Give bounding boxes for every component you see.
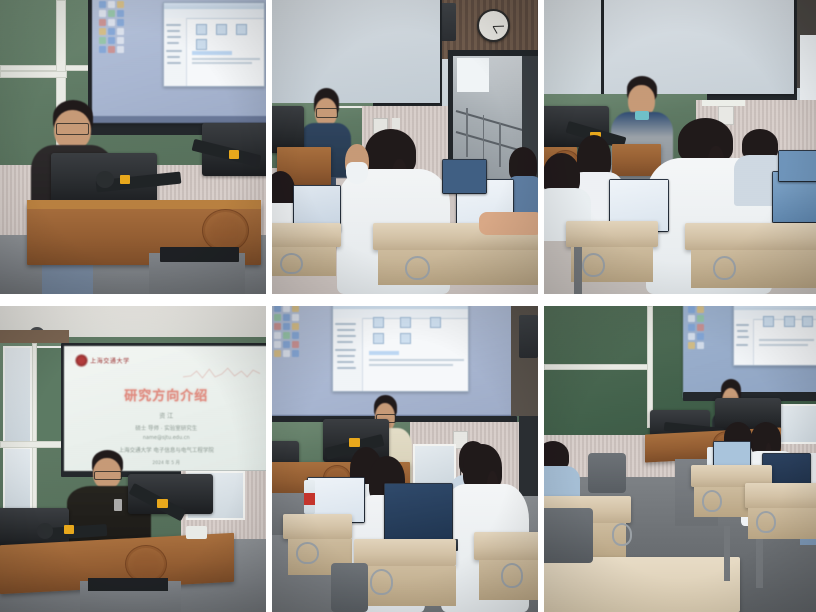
laptop-display	[443, 160, 486, 193]
file-item[interactable]	[430, 317, 441, 328]
desktop-icon	[99, 10, 106, 17]
projected-windows-desktop	[683, 306, 816, 398]
student-desk-left	[272, 223, 341, 247]
file-item[interactable]	[196, 39, 207, 50]
desktop-icon	[99, 1, 106, 8]
desk-hook	[370, 569, 393, 594]
laptop-back[interactable]	[713, 441, 751, 469]
collar	[635, 111, 649, 119]
detail-row	[192, 58, 260, 60]
file-item[interactable]	[236, 24, 247, 35]
desktop-icon	[688, 342, 695, 349]
collage-panel-2[interactable]: Instructor in dark blue shirt speaking t…	[270, 0, 542, 300]
chair-leg	[756, 539, 763, 588]
arm-joint	[64, 525, 75, 534]
desktop-icon	[292, 350, 299, 357]
desktop-icon	[292, 341, 299, 348]
empty-chair-front	[544, 508, 593, 563]
desktop-icon	[117, 19, 124, 26]
nav-item[interactable]	[337, 329, 355, 331]
nav-item[interactable]	[337, 335, 357, 337]
desktop-icon	[99, 46, 106, 53]
desk-hook	[405, 256, 430, 281]
slide-subtitle-line-3: name@sjtu.edu.cn	[64, 435, 266, 441]
desk-hook	[582, 253, 605, 278]
window-frame-horizontal	[0, 441, 67, 449]
chalkboard-frame-horizontal	[544, 364, 653, 370]
nav-item[interactable]	[335, 349, 356, 351]
navigation-pane[interactable]	[333, 318, 364, 391]
desk-hook	[501, 563, 524, 588]
desktop-icon	[108, 28, 115, 35]
chair	[331, 563, 368, 612]
desktop-icon	[274, 341, 281, 348]
file-explorer-window[interactable]	[733, 306, 816, 366]
nav-item[interactable]	[166, 24, 181, 26]
desktop-icon	[274, 306, 281, 312]
nav-item[interactable]	[167, 30, 180, 32]
navigation-pane[interactable]	[734, 319, 754, 365]
laptop-display	[714, 442, 750, 468]
nav-item[interactable]	[337, 355, 355, 357]
detail-row	[759, 339, 814, 341]
desktop-icon	[283, 341, 290, 348]
laptop-display	[385, 484, 452, 540]
navigation-pane[interactable]	[164, 18, 187, 86]
slide-logo: 上海交通大学	[76, 355, 130, 366]
desktop-icon	[117, 28, 124, 35]
window-pane	[3, 447, 32, 514]
collage-panel-5[interactable]: Presenter in light shirt in front of pro…	[270, 300, 542, 612]
desktop-icon	[108, 19, 115, 26]
desk-hook	[612, 523, 632, 545]
nav-item[interactable]	[167, 42, 179, 44]
arm-joint	[157, 499, 168, 508]
nav-item[interactable]	[736, 344, 749, 346]
sweatshirt-logo	[114, 499, 122, 511]
desktop-icon	[688, 306, 695, 313]
collage-panel-3[interactable]: Presenter in grey jacket at lectern addr…	[542, 0, 816, 300]
stairwell-window	[457, 58, 488, 92]
hair	[678, 118, 733, 164]
detail-row	[759, 344, 807, 346]
right-window	[800, 35, 816, 100]
nav-item[interactable]	[337, 341, 354, 343]
desktop-icon	[99, 19, 106, 26]
chair-leg	[724, 526, 731, 581]
desktop-icon	[697, 342, 704, 349]
desktop-icon	[274, 350, 281, 357]
nav-item[interactable]	[737, 336, 749, 338]
glasses-icon	[56, 123, 89, 135]
detail-row	[192, 62, 252, 64]
desk-front-right	[691, 250, 816, 288]
desktop-icon	[99, 28, 106, 35]
nav-item[interactable]	[736, 324, 749, 326]
wall-socket[interactable]	[392, 118, 400, 130]
file-item[interactable]	[373, 333, 384, 344]
photo-bottom-right: Wide room view: presenter at lectern in …	[544, 306, 816, 612]
file-item[interactable]	[784, 316, 795, 327]
lectern-top-edge	[27, 200, 261, 209]
empty-desk-foreground	[544, 557, 740, 612]
desktop-icon	[697, 306, 704, 313]
file-explorer-window[interactable]	[163, 2, 265, 87]
slide-logo-text: 上海交通大学	[90, 356, 130, 365]
desktop-icon	[283, 332, 290, 339]
university-seal-emblem	[202, 209, 249, 252]
photo-top-center: Instructor in dark blue shirt speaking t…	[272, 0, 538, 294]
desktop-icon	[292, 306, 299, 312]
desktop-icon-grid	[99, 1, 124, 53]
collage-panel-6[interactable]: Wide room view: presenter at lectern in …	[542, 300, 816, 612]
lectern-control-panel[interactable]	[160, 247, 240, 262]
student-desk-left	[283, 514, 352, 538]
desktop-icon	[688, 324, 695, 331]
desk-hook	[702, 490, 722, 512]
desk-leg	[574, 247, 582, 294]
file-item[interactable]	[400, 333, 411, 344]
desktop-icon	[283, 314, 290, 321]
water-bottle-label	[304, 493, 315, 505]
wall-clock	[477, 9, 510, 42]
university-logo-icon	[76, 355, 87, 366]
lectern-control-panel[interactable]	[88, 578, 168, 590]
student-desk-left	[566, 221, 658, 247]
empty-chair-back	[588, 453, 626, 493]
desktop-icon	[117, 10, 124, 17]
laptop-display	[779, 151, 816, 181]
file-item[interactable]	[196, 24, 207, 35]
desktop-icon	[688, 315, 695, 322]
student-desk-right	[474, 532, 538, 560]
nav-item[interactable]	[737, 330, 748, 332]
student-with-mask	[336, 144, 384, 209]
desktop-icon	[283, 306, 290, 312]
desktop-icon	[108, 10, 115, 17]
forearm-on-desk	[479, 212, 538, 236]
file-item[interactable]	[400, 317, 411, 328]
desktop-icon	[292, 314, 299, 321]
stair-baluster	[499, 123, 501, 167]
arm-joint	[229, 150, 240, 159]
monitor-stand-knuckle	[37, 523, 53, 538]
file-item[interactable]	[763, 316, 774, 327]
window-pane	[3, 346, 32, 444]
slide-subtitle-line-2: 硕士 导师 · 实验室研究生	[64, 424, 266, 432]
desktop-icon	[274, 323, 281, 330]
desk-hook	[756, 511, 776, 533]
detail-row	[369, 364, 453, 366]
photo-top-right: Presenter in grey jacket at lectern addr…	[544, 0, 816, 294]
photo-bottom-center: Presenter in light shirt in front of pro…	[272, 306, 538, 612]
slide-subtitle-line-1: 资 江	[64, 411, 266, 420]
file-explorer-window[interactable]	[332, 306, 469, 392]
window-pane	[35, 346, 64, 444]
monitor-left-edge	[272, 106, 304, 153]
student-desk-right	[685, 223, 816, 249]
stair-baluster	[466, 108, 468, 157]
desktop-icon	[99, 37, 106, 44]
photo-top-left: Instructor in black T-shirt standing beh…	[0, 0, 266, 294]
desktop-icon	[688, 333, 695, 340]
desk-hook	[280, 253, 303, 275]
laptop-far-right[interactable]	[778, 150, 816, 182]
desktop-icon	[274, 332, 281, 339]
stair-baluster	[483, 115, 485, 162]
desk-hook	[296, 542, 319, 564]
nav-item[interactable]	[167, 56, 180, 58]
desktop-icon	[697, 315, 704, 322]
projector-screen	[683, 306, 816, 398]
desk-hook	[713, 256, 736, 281]
nav-item[interactable]	[335, 323, 356, 325]
arm-joint	[120, 175, 131, 184]
waveform-decoration-icon	[183, 363, 261, 383]
desktop-icon	[117, 46, 124, 53]
glasses-icon	[94, 471, 122, 480]
nav-item[interactable]	[337, 361, 354, 363]
desktop-icon	[117, 37, 124, 44]
wall-speaker	[519, 315, 538, 358]
window-frame-vertical	[32, 343, 37, 514]
desktop-icon	[697, 333, 704, 340]
desktop-icon	[283, 350, 290, 357]
desktop-icon-grid	[688, 306, 704, 349]
student-desk-right	[745, 483, 816, 507]
nav-item[interactable]	[337, 367, 356, 369]
file-item[interactable]	[802, 316, 813, 327]
desk-items	[186, 526, 207, 538]
nav-item[interactable]	[166, 50, 182, 52]
projector-screen	[272, 0, 440, 103]
laptop-center[interactable]	[384, 483, 453, 541]
desktop-icon	[117, 1, 124, 8]
selected-row[interactable]	[192, 51, 232, 55]
desktop-icon	[108, 1, 115, 8]
selected-row[interactable]	[369, 351, 399, 355]
detail-row	[369, 359, 464, 361]
student-desk-center	[354, 539, 455, 567]
desktop-icon	[108, 46, 115, 53]
collage-panel-1[interactable]: Instructor in black T-shirt standing beh…	[0, 0, 270, 300]
desktop-icon-grid	[274, 306, 299, 357]
laptop-back-row[interactable]	[442, 159, 487, 194]
desktop-icon	[292, 323, 299, 330]
nav-item[interactable]	[167, 62, 181, 64]
desktop-icon	[697, 324, 704, 331]
file-item[interactable]	[373, 317, 384, 328]
file-item[interactable]	[216, 24, 227, 35]
nav-item[interactable]	[167, 36, 181, 38]
desktop-icon	[283, 323, 290, 330]
clock-minute-hand	[493, 25, 504, 26]
desk-front-right	[378, 250, 538, 285]
wall-whiteboard-edge	[702, 100, 746, 106]
glasses-icon	[316, 108, 338, 117]
photo-bottom-left: 上海交通大学 研究方向介绍 资 江 硕士 导师 · 实验室研究生 name@sj…	[0, 306, 266, 612]
photo-collage: Instructor in black T-shirt standing beh…	[0, 0, 816, 612]
arm-joint	[349, 438, 360, 447]
collage-panel-4[interactable]: 上海交通大学 研究方向介绍 资 江 硕士 导师 · 实验室研究生 name@sj…	[0, 300, 270, 612]
window-mullion-horizontal	[0, 71, 67, 78]
face-mask	[346, 162, 368, 184]
desktop-icon	[292, 332, 299, 339]
slide-title: 研究方向介绍	[64, 385, 266, 404]
desktop-icon	[108, 37, 115, 44]
desktop-icon	[274, 314, 281, 321]
